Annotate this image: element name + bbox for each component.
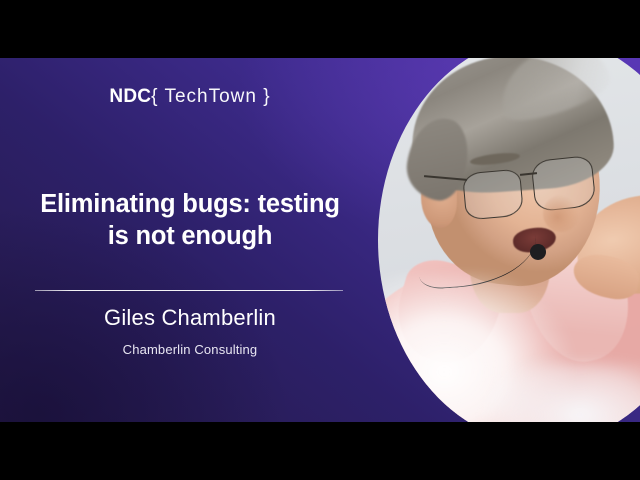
talk-title: Eliminating bugs: testing is not enough <box>10 188 370 252</box>
speaker-name: Giles Chamberlin <box>0 305 380 331</box>
slide-content: NDC{ TechTown } Eliminating bugs: testin… <box>0 58 640 422</box>
logo-name-light: { TechTown } <box>151 86 270 107</box>
ndc-techtown-logo: NDC{ TechTown } <box>0 86 380 108</box>
glasses-lens-left <box>462 168 524 220</box>
letterbox-bar-top <box>0 0 640 58</box>
nose-shape <box>543 195 579 232</box>
photo-backdrop <box>378 58 640 422</box>
speaker-photo <box>378 58 640 422</box>
talk-title-line-1: Eliminating bugs: testing <box>10 188 370 220</box>
talk-title-line-2: is not enough <box>10 220 370 252</box>
logo-name-bold: NDC <box>109 86 151 107</box>
title-divider <box>35 290 343 291</box>
letterbox-bar-bottom <box>0 422 640 480</box>
speaker-affiliation: Chamberlin Consulting <box>0 342 380 357</box>
video-slide: NDC{ TechTown } Eliminating bugs: testin… <box>0 0 640 480</box>
slide-text-block: NDC{ TechTown } Eliminating bugs: testin… <box>0 58 380 422</box>
